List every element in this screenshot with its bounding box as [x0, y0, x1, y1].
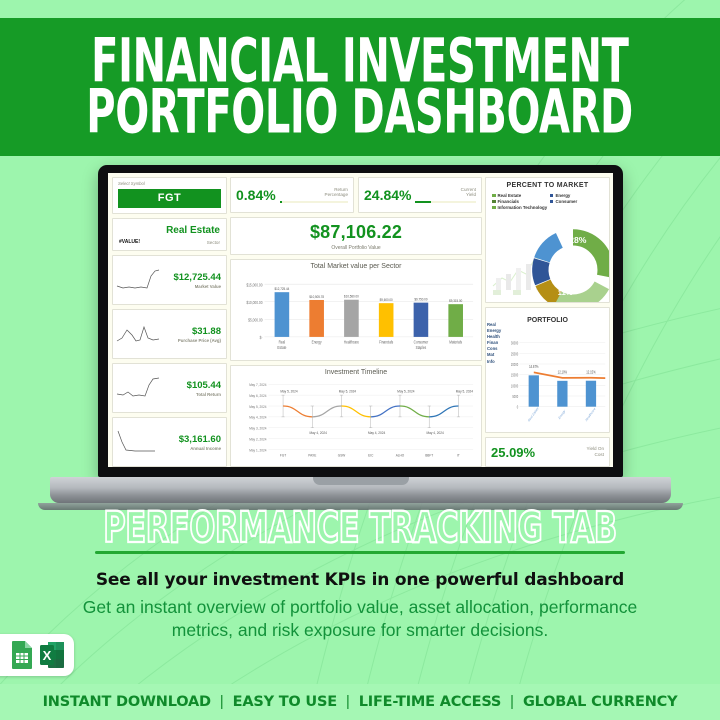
legend-swatch-icon	[550, 194, 554, 198]
svg-text:May 5, 2024: May 5, 2024	[249, 405, 266, 409]
legend-label: Financials	[498, 199, 519, 204]
overall-portfolio-value: $87,106.22	[310, 222, 402, 243]
legend-swatch-icon	[492, 200, 496, 204]
legend-swatch-icon	[492, 206, 496, 210]
legend-label: Energy	[555, 193, 570, 198]
line-chart-svg: May 7, 2024May 6, 2024May 5, 2024May 4, …	[235, 377, 477, 464]
kpi-value: $3,161.60	[161, 434, 221, 445]
yield-on-cost-card: 25.09% Yield On Cost	[485, 437, 610, 467]
kpi-value: $12,725.44	[161, 272, 221, 283]
description-block: Get an instant overview of portfolio val…	[30, 596, 690, 642]
header-title-line2: PORTFOLIO DASHBOARD	[87, 83, 633, 143]
yield-on-cost-label-2: Cost	[535, 452, 604, 458]
svg-text:Real Estate: Real Estate	[528, 406, 540, 423]
sector-list: Real Energy Health Finan Cons Mat Info	[487, 322, 501, 365]
svg-text:12.10%: 12.10%	[558, 370, 568, 375]
dashboard-middle-column: 0.84% Return Percentage 24.84% Current	[230, 177, 485, 467]
return-percentage-label-2: Percentage	[280, 192, 348, 198]
legend-item: Real Estate	[492, 193, 544, 198]
sector-error-value: #VALUE!	[119, 239, 140, 245]
svg-text:May 4, 2024: May 4, 2024	[368, 431, 385, 435]
svg-text:$-: $-	[260, 336, 263, 341]
footer-item-instant-download: INSTANT DOWNLOAD	[43, 694, 211, 710]
symbol-selector-value[interactable]: FGT	[118, 189, 221, 208]
svg-text:25000: 25000	[511, 352, 518, 357]
kpi-label: Purchase Price (Avg)	[161, 338, 221, 343]
svg-text:$12,725.44: $12,725.44	[275, 287, 290, 292]
svg-text:May 5, 2024: May 5, 2024	[456, 389, 473, 393]
sector-card: Real Estate #VALUE! Sector	[112, 218, 227, 251]
overall-portfolio-label: Overall Portfolio Value	[331, 245, 380, 251]
kpi-label: Market Value	[161, 284, 221, 289]
svg-text:10000: 10000	[511, 384, 518, 389]
subtitle-text: PERFORMANCE TRACKING TAB	[103, 504, 616, 552]
kpi-value: $105.44	[161, 380, 221, 391]
kpi-card-total-return: $105.44 Total Return	[112, 363, 227, 413]
section-subtitle: PERFORMANCE TRACKING TAB	[0, 508, 720, 554]
current-yield-label-2: Yield	[415, 192, 476, 198]
sparkline-icon	[115, 267, 161, 293]
market-value-per-sector-chart: Total Market value per Sector $15,000.00…	[230, 259, 482, 361]
svg-text:PAXE: PAXE	[308, 453, 317, 457]
bar-chart-svg: $15,000.00$10,000.00$5,000.00$-$12,725.4…	[235, 271, 477, 358]
svg-text:GSW: GSW	[338, 453, 346, 457]
donut-chart-title: PERCENT TO MARKET	[490, 182, 605, 189]
footer-bar: INSTANT DOWNLOAD | EASY TO USE | LIFE-TI…	[0, 684, 720, 720]
kpi-card-market-value: $12,725.44 Market Value	[112, 255, 227, 305]
sparkline-icon	[115, 429, 161, 455]
svg-text:ALHO: ALHO	[396, 453, 405, 457]
donut-chart: 28% 11% 11%	[525, 222, 610, 303]
legend-item: Energy	[550, 193, 602, 198]
svg-text:Staples: Staples	[416, 345, 427, 350]
legend-item: Financials	[492, 199, 544, 204]
kpi-card-annual-income: $3,161.60 Annual Income	[112, 417, 227, 467]
tagline: See all your investment KPIs in one powe…	[0, 570, 720, 590]
svg-text:IT: IT	[457, 453, 461, 457]
svg-text:Estate: Estate	[277, 345, 286, 350]
svg-text:May 3, 2024: May 3, 2024	[249, 426, 266, 430]
description-line-2: metrics, and risk exposure for smarter d…	[30, 619, 690, 642]
symbol-selector-label: Select Symbol	[118, 181, 221, 186]
svg-text:May 4, 2024: May 4, 2024	[426, 431, 443, 435]
svg-text:Energy: Energy	[558, 408, 566, 420]
footer-separator: |	[220, 694, 224, 710]
svg-text:BBFT: BBFT	[425, 453, 434, 457]
laptop-screen: Select Symbol FGT Real Estate #VALUE! Se…	[108, 173, 613, 467]
svg-text:20000: 20000	[511, 362, 518, 367]
legend-swatch-icon	[550, 200, 554, 204]
portfolio-panel: PORTFOLIO Real Energy Health Finan Cons …	[485, 307, 610, 433]
legend-label: Consumer	[555, 199, 577, 204]
kpi-label: Total Return	[161, 392, 221, 397]
svg-text:May 7, 2024: May 7, 2024	[249, 383, 266, 387]
sparkline-icon	[115, 321, 161, 347]
svg-text:28%: 28%	[569, 235, 587, 245]
donut-legend: Real Estate Energy Financials Consumer I…	[490, 193, 605, 210]
kpi-label: Annual Income	[161, 446, 221, 451]
svg-text:$9,315.00: $9,315.00	[449, 299, 462, 304]
svg-text:30000: 30000	[511, 341, 518, 346]
sector-list-item: Info	[487, 359, 501, 365]
svg-text:15000: 15000	[511, 373, 518, 378]
svg-text:Financials: Financials	[379, 340, 393, 345]
footer-separator: |	[510, 694, 514, 710]
dashboard: Select Symbol FGT Real Estate #VALUE! Se…	[108, 173, 613, 467]
svg-text:$9,750.00: $9,750.00	[414, 297, 427, 302]
svg-text:EIC: EIC	[368, 453, 374, 457]
footer-item-global-currency: GLOBAL CURRENCY	[523, 694, 677, 710]
current-yield-value: 24.84%	[364, 187, 411, 203]
svg-text:$10,580.00: $10,580.00	[344, 294, 359, 299]
yield-on-cost-value: 25.09%	[491, 445, 535, 460]
svg-text:14.67%: 14.67%	[529, 364, 539, 369]
symbol-selector-card[interactable]: Select Symbol FGT	[112, 177, 227, 214]
svg-text:$10,505.78: $10,505.78	[309, 294, 324, 299]
sector-label: Sector	[207, 240, 220, 245]
svg-text:$5,000.00: $5,000.00	[248, 318, 262, 323]
chart-title: Investment Timeline	[235, 369, 477, 376]
footer-item-easy-to-use: EASY TO USE	[233, 694, 337, 710]
svg-text:Consumer: Consumer	[414, 340, 429, 345]
svg-text:May 5, 2024: May 5, 2024	[280, 389, 297, 393]
svg-text:Energy: Energy	[312, 340, 322, 345]
laptop-base	[50, 477, 671, 503]
return-percentage-card: 0.84% Return Percentage	[230, 177, 354, 213]
svg-text:May 4, 2024: May 4, 2024	[249, 415, 266, 419]
svg-text:$10,000.00: $10,000.00	[246, 300, 262, 305]
svg-text:May 6, 2024: May 6, 2024	[249, 394, 266, 398]
svg-text:May 5, 2024: May 5, 2024	[397, 389, 414, 393]
footer-separator: |	[346, 694, 350, 710]
svg-text:$15,000.00: $15,000.00	[246, 283, 262, 288]
header-banner: FINANCIAL INVESTMENT PORTFOLIO DASHBOARD	[0, 18, 720, 156]
file-format-badge: X	[0, 634, 74, 676]
svg-text:Healthcare: Healthcare	[585, 406, 596, 422]
kpi-card-purchase-price: $31.88 Purchase Price (Avg)	[112, 309, 227, 359]
svg-text:May 4, 2024: May 4, 2024	[310, 431, 327, 435]
portfolio-chart-title: PORTFOLIO	[489, 317, 606, 324]
percent-to-market-panel: PERCENT TO MARKET Real Estate Energy Fin…	[485, 177, 610, 303]
description-line-1: Get an instant overview of portfolio val…	[30, 596, 690, 619]
dashboard-left-column: Select Symbol FGT Real Estate #VALUE! Se…	[112, 177, 230, 467]
chart-title: Total Market value per Sector	[235, 263, 477, 270]
legend-label: Real Estate	[498, 193, 522, 198]
microsoft-excel-icon: X	[39, 640, 65, 670]
sector-name: Real Estate	[119, 225, 220, 236]
legend-item: Information Technology	[492, 205, 600, 210]
svg-text:X: X	[43, 648, 52, 663]
return-percentage-progress	[280, 201, 348, 204]
percent-cards-row: 0.84% Return Percentage 24.84% Current	[230, 177, 482, 213]
svg-text:May 2, 2024: May 2, 2024	[249, 437, 266, 441]
svg-text:0: 0	[517, 405, 518, 410]
dashboard-right-column: PERCENT TO MARKET Real Estate Energy Fin…	[485, 177, 613, 467]
svg-text:May 1, 2024: May 1, 2024	[249, 448, 266, 452]
svg-text:$9,600.00: $9,600.00	[380, 298, 393, 303]
legend-item: Consumer	[550, 199, 602, 204]
svg-text:Real: Real	[279, 340, 286, 345]
svg-text:12.15%: 12.15%	[586, 370, 596, 375]
laptop-lid: Select Symbol FGT Real Estate #VALUE! Se…	[98, 165, 623, 477]
svg-text:FGT: FGT	[280, 453, 287, 457]
sparkline-icon	[115, 375, 161, 401]
current-yield-progress	[415, 201, 476, 204]
current-yield-card: 24.84% Current Yield	[358, 177, 482, 213]
overall-portfolio-value-card: $87,106.22 Overall Portfolio Value	[230, 217, 482, 255]
laptop-mockup: Select Symbol FGT Real Estate #VALUE! Se…	[98, 165, 623, 510]
svg-text:Healthcare: Healthcare	[344, 340, 359, 345]
svg-text:11%: 11%	[558, 288, 573, 297]
legend-label: Information Technology	[498, 205, 548, 210]
google-sheets-icon	[10, 640, 34, 670]
svg-text:May 5, 2024: May 5, 2024	[339, 389, 356, 393]
footer-item-lifetime-access: LIFE-TIME ACCESS	[359, 694, 501, 710]
legend-swatch-icon	[492, 194, 496, 198]
svg-text:5000: 5000	[512, 394, 518, 399]
return-percentage-value: 0.84%	[236, 187, 276, 203]
svg-text:Materials: Materials	[449, 340, 462, 345]
investment-timeline-chart: Investment Timeline May 7, 2024May 6, 20…	[230, 365, 482, 467]
kpi-value: $31.88	[161, 326, 221, 337]
portfolio-chart-svg: 30000250002000015000100005000014.67%Real…	[502, 328, 607, 430]
